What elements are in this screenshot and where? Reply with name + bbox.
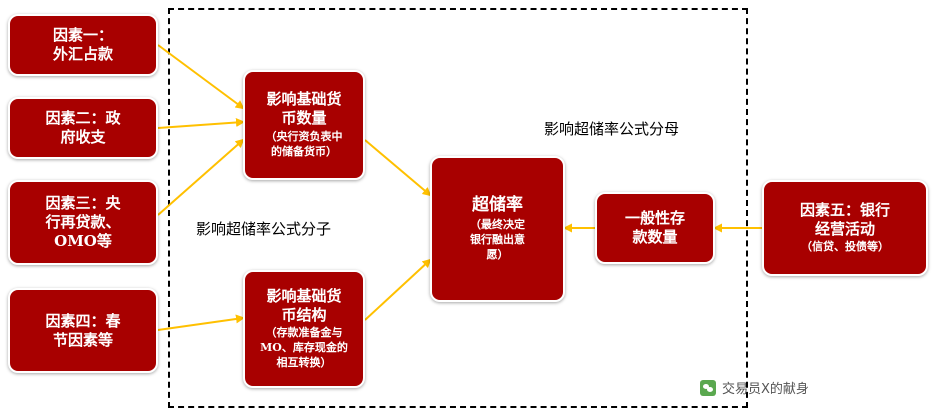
- node-base-money-structure-sub: （存款准备金与 MO、库存现金的 相互转换）: [260, 326, 348, 371]
- node-excess-reserve-ratio-title: 超储率: [472, 195, 523, 216]
- node-base-money-quantity[interactable]: 影响基础货 币数量 （央行资负表中 的储备货币）: [243, 70, 365, 180]
- node-factor5-line1: 因素五：银行: [800, 201, 890, 220]
- node-factor1[interactable]: 因素一： 外汇占款: [8, 14, 158, 76]
- node-factor2[interactable]: 因素二：政 府收支: [8, 97, 158, 159]
- node-factor5-sub: （信贷、投债等）: [801, 240, 889, 255]
- denominator-label: 影响超储率公式分母: [544, 118, 679, 139]
- watermark: 交易员X的献身: [700, 378, 809, 397]
- node-general-deposits[interactable]: 一般性存 款数量: [595, 192, 715, 264]
- watermark-text: 交易员X的献身: [722, 378, 809, 397]
- node-factor2-line2: 府收支: [60, 128, 105, 147]
- node-factor3-line2: 行再贷款、: [45, 213, 120, 232]
- node-factor1-line1: 因素一：: [53, 26, 113, 45]
- node-general-deposits-line1: 一般性存: [625, 209, 685, 228]
- node-excess-reserve-ratio-sub: （最终决定 银行融出意 愿）: [470, 218, 525, 263]
- node-factor3[interactable]: 因素三：央 行再贷款、 OMO等: [8, 180, 158, 265]
- node-base-money-structure-line2: 币结构: [281, 306, 326, 325]
- node-factor3-line1: 因素三：央: [45, 194, 120, 213]
- wechat-official-account-icon: [700, 380, 716, 396]
- node-base-money-structure[interactable]: 影响基础货 币结构 （存款准备金与 MO、库存现金的 相互转换）: [243, 270, 365, 388]
- node-factor2-line1: 因素二：政: [45, 109, 120, 128]
- node-factor5[interactable]: 因素五：银行 经营活动 （信贷、投债等）: [762, 180, 928, 276]
- node-factor4-line2: 节因素等: [53, 331, 113, 350]
- node-factor4-line1: 因素四：春: [45, 312, 120, 331]
- node-excess-reserve-ratio[interactable]: 超储率 （最终决定 银行融出意 愿）: [430, 156, 565, 302]
- node-factor5-line2: 经营活动: [815, 220, 875, 239]
- numerator-label: 影响超储率公式分子: [196, 218, 331, 239]
- node-general-deposits-line2: 款数量: [632, 228, 677, 247]
- node-base-money-structure-line1: 影响基础货: [266, 287, 341, 306]
- node-factor3-line3: OMO等: [54, 232, 112, 251]
- node-base-money-quantity-line1: 影响基础货: [266, 90, 341, 109]
- node-factor1-line2: 外汇占款: [53, 45, 113, 64]
- node-base-money-quantity-sub: （央行资负表中 的储备货币）: [266, 130, 343, 160]
- diagram-canvas: 因素一： 外汇占款 因素二：政 府收支 因素三：央 行再贷款、 OMO等 因素四…: [0, 0, 936, 419]
- node-factor4[interactable]: 因素四：春 节因素等: [8, 288, 158, 373]
- node-base-money-quantity-line2: 币数量: [281, 109, 326, 128]
